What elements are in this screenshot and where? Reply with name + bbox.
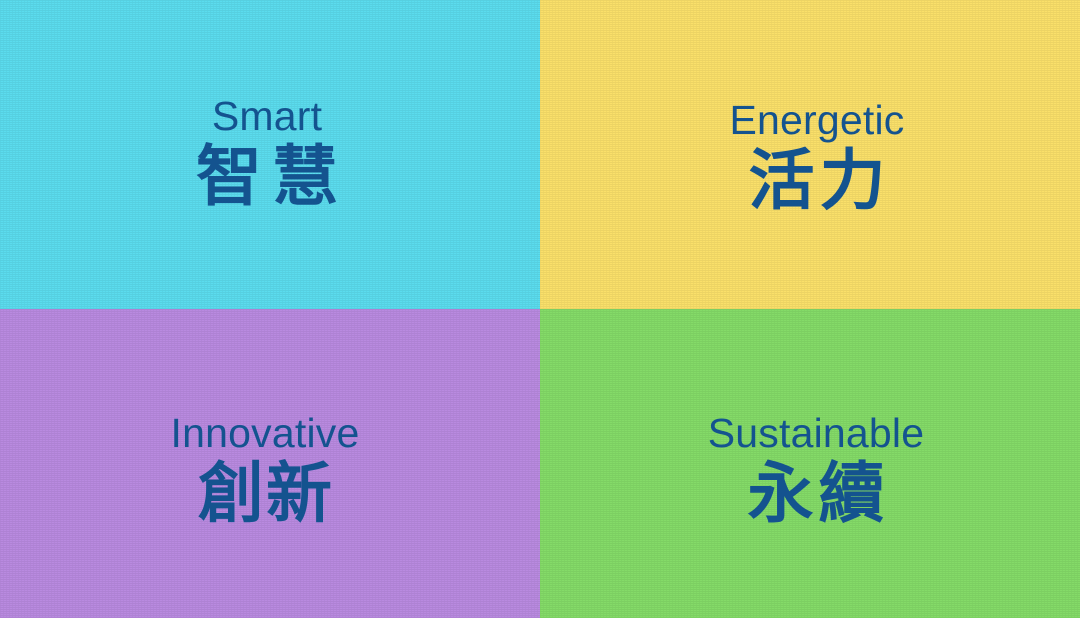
value-panel-smart[interactable]: Smart 智慧 (0, 0, 540, 309)
value-text-block-energetic: Energetic 活力 (729, 100, 904, 213)
value-label-en-energetic: Energetic (729, 100, 904, 141)
value-panel-innovative[interactable]: Innovative 創新 (0, 309, 540, 618)
value-text-block-smart: Smart 智慧 (186, 96, 348, 209)
value-panel-energetic[interactable]: Energetic 活力 (540, 0, 1080, 309)
value-label-zh-energetic: 活力 (743, 147, 890, 213)
value-label-en-sustainable: Sustainable (708, 413, 924, 454)
value-label-zh-sustainable: 永續 (742, 460, 889, 526)
value-label-zh-innovative: 創新 (196, 460, 334, 526)
value-label-en-smart: Smart (212, 96, 322, 137)
value-text-block-innovative: Innovative 創新 (171, 413, 360, 526)
value-label-en-innovative: Innovative (171, 413, 360, 454)
value-panel-sustainable[interactable]: Sustainable 永續 (540, 309, 1080, 618)
value-text-block-sustainable: Sustainable 永續 (708, 413, 924, 526)
brand-values-grid: Smart 智慧 Energetic 活力 Innovative 創新 Sust… (0, 0, 1080, 618)
value-label-zh-smart: 智慧 (186, 143, 348, 209)
